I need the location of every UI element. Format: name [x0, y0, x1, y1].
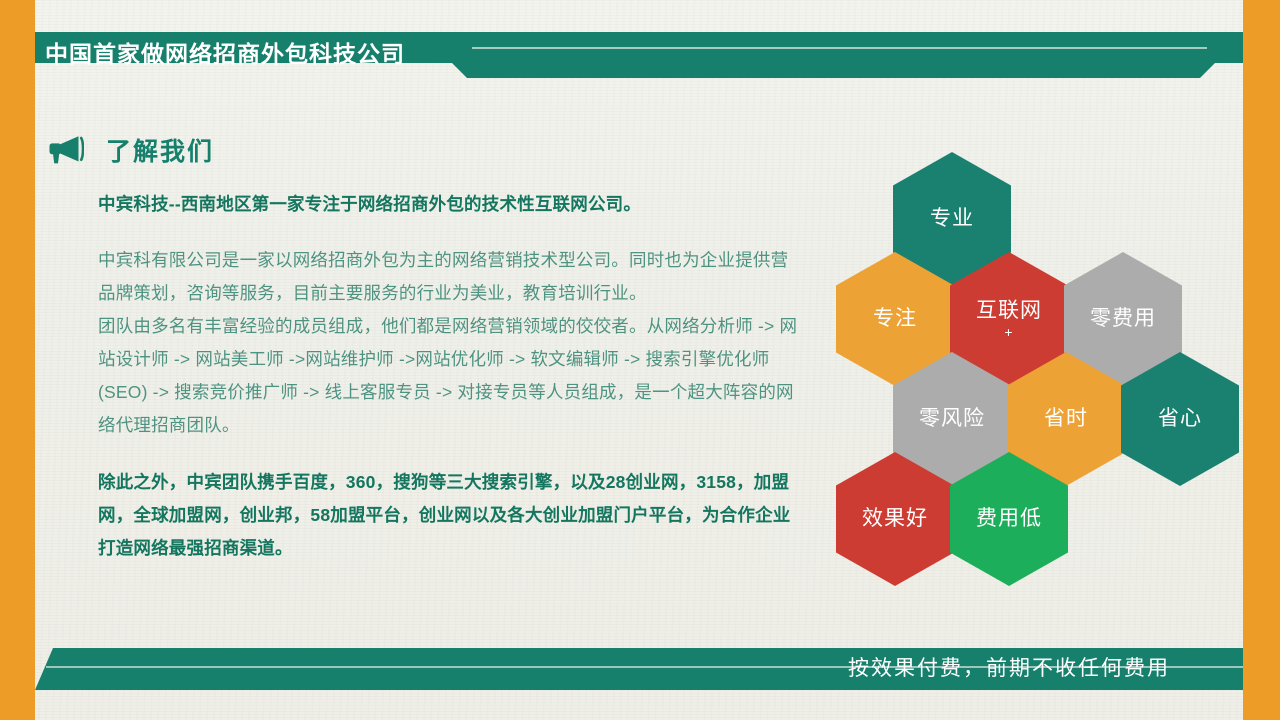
hexagon-label: 专注 [873, 306, 917, 332]
hexagon-sublabel: + [1004, 324, 1013, 340]
hexagon-label: 零费用 [1090, 306, 1156, 332]
hexagon-label: 效果好 [862, 506, 928, 532]
lead-paragraph: 中宾科技--西南地区第一家专注于网络招商外包的技术性互联网公司。 [98, 190, 798, 218]
closing-paragraph: 除此之外，中宾团队携手百度，360，搜狗等三大搜索引擎，以及28创业网，3158… [98, 466, 798, 565]
section-title: 了解我们 [106, 132, 214, 168]
section-heading: 了解我们 [48, 132, 214, 168]
hexagon-label: 专业 [930, 206, 974, 232]
slide-canvas: 中国首家做网络招商外包科技公司 了解我们 中宾科技--西南地区第一家专注于网络招… [0, 0, 1280, 720]
hexagon-label: 费用低 [976, 506, 1042, 532]
hexagon-label: 省心 [1158, 406, 1202, 432]
footer-tagline: 按效果付费，前期不收任何费用 [848, 650, 1170, 688]
hexagon-cluster: 专业专注互联网+零费用零风险省时省心效果好费用低 [836, 152, 1236, 552]
body-text-column: 中宾科技--西南地区第一家专注于网络招商外包的技术性互联网公司。 中宾科有限公司… [98, 190, 798, 565]
hexagon-label: 省时 [1044, 406, 1088, 432]
hexagon-label: 互联网 [976, 298, 1042, 324]
megaphone-icon [48, 135, 84, 165]
hexagon-label: 零风险 [919, 406, 985, 432]
page-title: 中国首家做网络招商外包科技公司 [45, 36, 405, 72]
body-paragraph-2: 团队由多名有丰富经验的成员组成，他们都是网络营销领域的佼佼者。从网络分析师 ->… [98, 310, 798, 442]
body-paragraph-1: 中宾科有限公司是一家以网络招商外包为主的网络营销技术型公司。同时也为企业提供营品… [98, 244, 798, 310]
header-hairline-divider [472, 47, 1207, 49]
